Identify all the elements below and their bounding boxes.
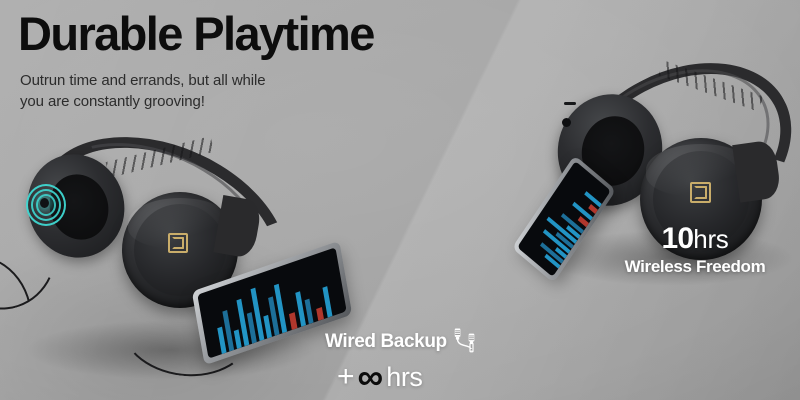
brand-logo (168, 233, 188, 253)
wireless-freedom-callout: 10hrs Wireless Freedom (600, 224, 790, 277)
wired-headphones-scene (0, 140, 380, 390)
wired-duration-unit: hrs (386, 364, 422, 391)
infinity-icon: ∞ (358, 359, 384, 395)
cable-port (40, 198, 49, 208)
page-title: Durable Playtime (18, 9, 374, 58)
plus-sign: + (337, 362, 355, 392)
wireless-duration-number: 10 (662, 222, 694, 255)
brand-logo (690, 182, 711, 203)
page-subtitle: Outrun time and errands, but all while y… (20, 70, 266, 113)
wireless-freedom-caption: Wireless Freedom (600, 257, 790, 277)
wired-backup-duration: + ∞ hrs (325, 359, 525, 395)
wireless-duration-unit: hrs (693, 224, 728, 254)
aux-port (562, 118, 571, 127)
promo-banner: Durable Playtime Outrun time and errands… (0, 0, 800, 400)
control-button (564, 102, 576, 105)
audio-cable-icon (452, 327, 478, 357)
wired-backup-callout: Wired Backup (325, 327, 525, 395)
wireless-duration: 10hrs (600, 224, 790, 254)
wired-backup-row: Wired Backup (325, 327, 525, 357)
wired-backup-label: Wired Backup (325, 331, 447, 353)
